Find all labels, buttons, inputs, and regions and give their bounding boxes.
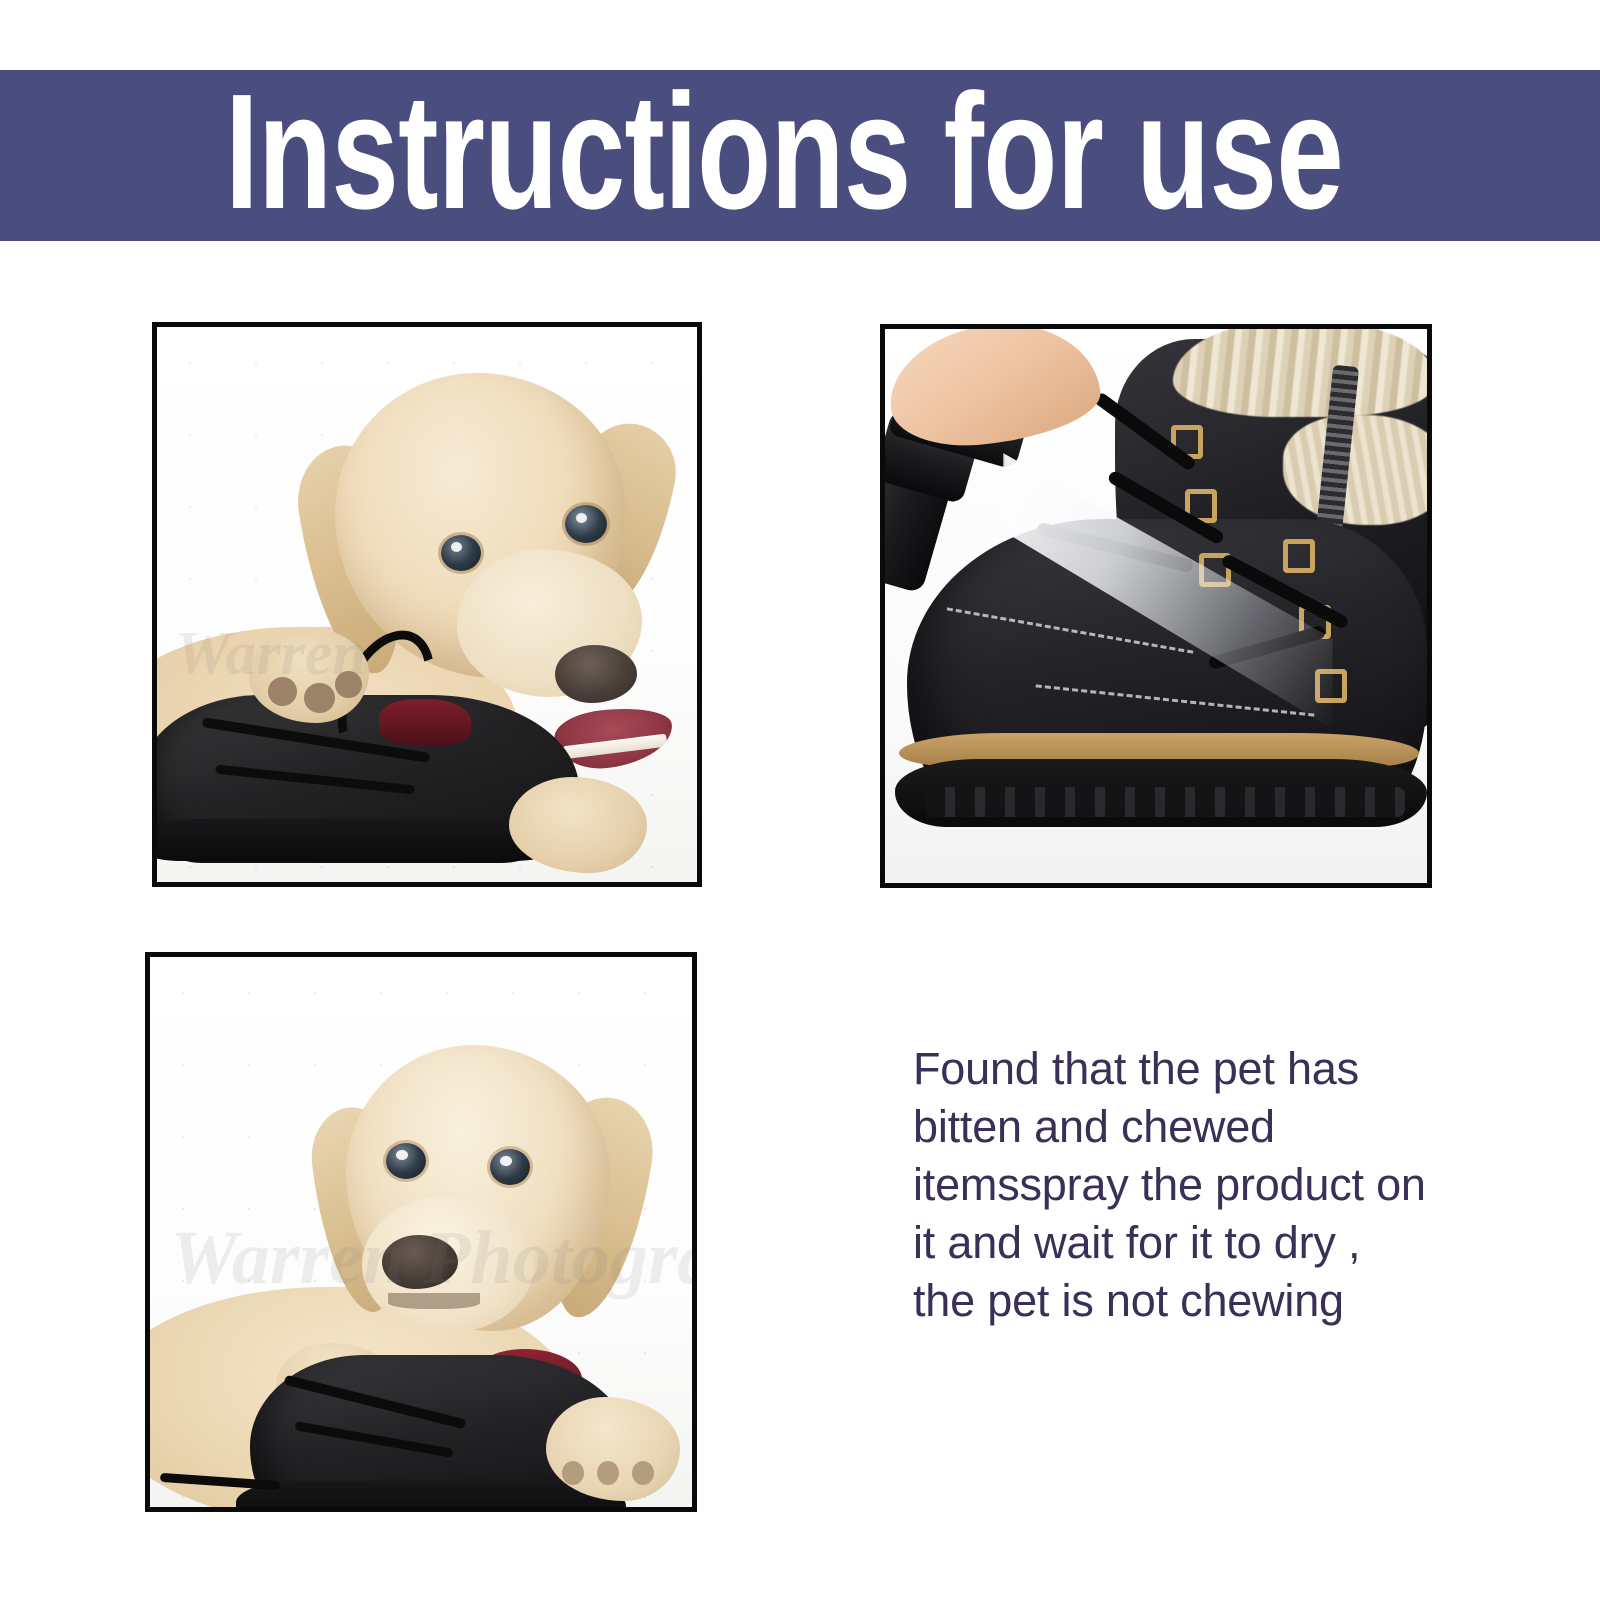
shoe-sole	[236, 1481, 626, 1512]
paw-toe	[597, 1461, 619, 1485]
photo-panel-puppy-shoe: Warren Photographic	[145, 952, 697, 1512]
photo-panel-spray-boots	[880, 324, 1432, 888]
puppy-eye-left	[386, 1143, 426, 1179]
paw-pad	[268, 677, 297, 706]
paw-pad	[335, 671, 361, 698]
photo-panel-puppy-chewing: Warren	[152, 322, 702, 887]
photo-spray-on-boots	[885, 329, 1427, 883]
puppy-eye-left	[441, 535, 481, 571]
shoe-sole	[152, 819, 565, 861]
puppy-mouth	[388, 1293, 480, 1309]
instruction-text: Found that the pet has bitten and chewed…	[913, 1040, 1433, 1330]
boot-eyelet	[1283, 539, 1315, 573]
header-banner: Instructions for use	[0, 70, 1600, 241]
paw-pad	[304, 683, 335, 714]
boot-fur-lining	[1173, 324, 1432, 417]
boot-tread	[925, 787, 1405, 817]
photo-puppy-chewing-shoe: Warren	[157, 327, 697, 882]
page-title: Instructions for use	[225, 70, 1076, 237]
puppy-eye-right	[490, 1149, 530, 1185]
puppy-paw-upper	[249, 627, 369, 723]
paw-toe	[562, 1461, 584, 1485]
photo-puppy-with-shoe: Warren Photographic	[150, 957, 692, 1507]
paw-toe	[632, 1461, 654, 1485]
puppy-eye-right	[565, 505, 607, 543]
puppy-teeth	[563, 734, 668, 759]
puppy-nose	[555, 645, 637, 703]
